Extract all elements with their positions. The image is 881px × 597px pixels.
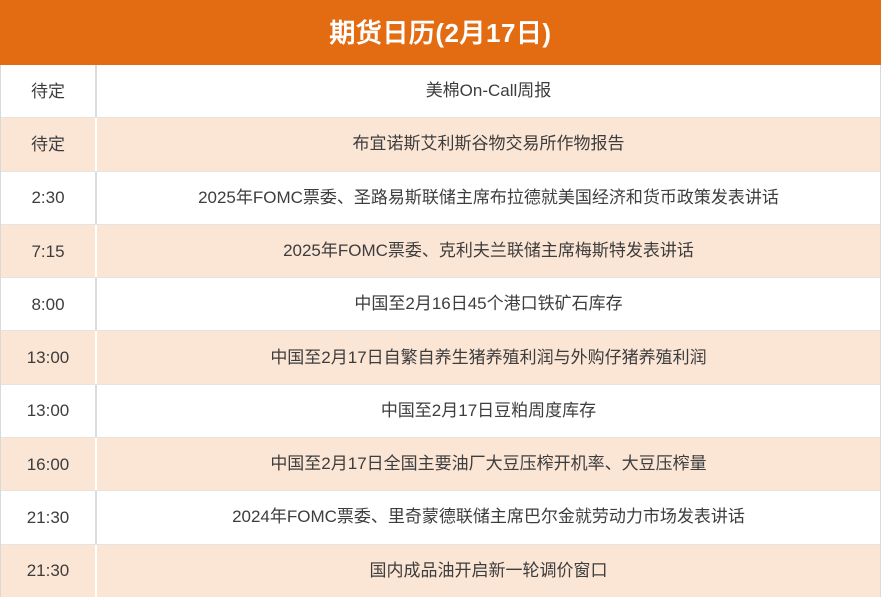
table-row[interactable]: 13:00 中国至2月17日自繁自养生猪养殖利润与外购仔猪养殖利润 — [1, 330, 880, 383]
row-time-cell: 21:30 — [1, 491, 97, 543]
table-row[interactable]: 16:00 中国至2月17日全国主要油厂大豆压榨开机率、大豆压榨量 — [1, 437, 880, 490]
row-event-cell: 中国至2月17日自繁自养生猪养殖利润与外购仔猪养殖利润 — [97, 331, 880, 383]
row-time-cell: 13:00 — [1, 331, 97, 383]
calendar-rows-container: 待定 美棉On-Call周报 待定 布宜诺斯艾利斯谷物交易所作物报告 2:30 … — [1, 65, 880, 597]
row-event-cell: 中国至2月17日豆粕周度库存 — [97, 385, 880, 437]
row-time-cell: 13:00 — [1, 385, 97, 437]
table-row[interactable]: 8:00 中国至2月16日45个港口铁矿石库存 — [1, 277, 880, 330]
row-event-cell: 中国至2月16日45个港口铁矿石库存 — [97, 278, 880, 330]
page-title: 期货日历(2月17日) — [329, 20, 551, 46]
row-time-cell: 2:30 — [1, 172, 97, 224]
row-time-cell: 待定 — [1, 118, 97, 170]
row-event-cell: 中国至2月17日全国主要油厂大豆压榨开机率、大豆压榨量 — [97, 438, 880, 490]
table-row[interactable]: 待定 布宜诺斯艾利斯谷物交易所作物报告 — [1, 117, 880, 170]
row-time-cell: 21:30 — [1, 545, 97, 597]
row-event-cell: 2024年FOMC票委、里奇蒙德联储主席巴尔金就劳动力市场发表讲话 — [97, 491, 880, 543]
table-row[interactable]: 21:30 2024年FOMC票委、里奇蒙德联储主席巴尔金就劳动力市场发表讲话 — [1, 490, 880, 543]
table-row[interactable]: 7:15 2025年FOMC票委、克利夫兰联储主席梅斯特发表讲话 — [1, 224, 880, 277]
row-time-cell: 16:00 — [1, 438, 97, 490]
row-event-cell: 2025年FOMC票委、克利夫兰联储主席梅斯特发表讲话 — [97, 225, 880, 277]
table-row[interactable]: 13:00 中国至2月17日豆粕周度库存 — [1, 384, 880, 437]
row-event-cell: 布宜诺斯艾利斯谷物交易所作物报告 — [97, 118, 880, 170]
row-time-cell: 8:00 — [1, 278, 97, 330]
futures-calendar-table: 期货日历(2月17日) 待定 美棉On-Call周报 待定 布宜诺斯艾利斯谷物交… — [0, 0, 881, 597]
calendar-header-bar: 期货日历(2月17日) — [0, 0, 881, 65]
row-event-cell: 国内成品油开启新一轮调价窗口 — [97, 545, 880, 597]
row-event-cell: 美棉On-Call周报 — [97, 65, 880, 117]
row-event-cell: 2025年FOMC票委、圣路易斯联储主席布拉德就美国经济和货币政策发表讲话 — [97, 172, 880, 224]
table-row[interactable]: 21:30 国内成品油开启新一轮调价窗口 — [1, 544, 880, 597]
row-time-cell: 待定 — [1, 65, 97, 117]
table-row[interactable]: 待定 美棉On-Call周报 — [1, 65, 880, 117]
row-time-cell: 7:15 — [1, 225, 97, 277]
table-row[interactable]: 2:30 2025年FOMC票委、圣路易斯联储主席布拉德就美国经济和货币政策发表… — [1, 171, 880, 224]
